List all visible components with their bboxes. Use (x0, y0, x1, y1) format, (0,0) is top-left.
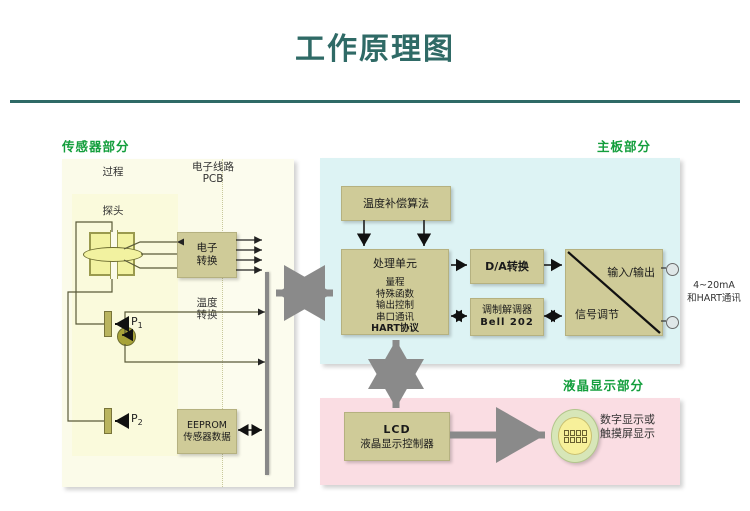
display-out-line1: 数字显示或 (600, 413, 686, 427)
cpu-feature-list: 量程 特殊函数 输出控制 串口通讯 HART协议 (371, 277, 419, 335)
page-title: 工作原理图 (0, 24, 750, 68)
io-diagonal-divider (566, 250, 662, 335)
process-caption: 过程 (80, 166, 146, 178)
digit-cell (570, 430, 575, 436)
io-bottom-label: 信号调节 (575, 308, 619, 321)
digit-cell (576, 430, 581, 436)
econv-line1: 电子 (197, 242, 218, 255)
p1-letter: P (131, 315, 138, 328)
temperature-conversion-caption: 温度 转换 (178, 297, 236, 321)
lcd-section-label: 液晶显示部分 (563, 375, 644, 394)
pressure-tap-p1 (104, 311, 112, 337)
temperature-compensation-box: 温度补偿算法 (341, 186, 451, 221)
probe-caption: 探头 (82, 205, 144, 217)
p1-label: P1 (131, 315, 143, 330)
cpu-feature: 串口通讯 (371, 312, 419, 324)
cpu-feature: 量程 (371, 277, 419, 289)
pcb-caption-line1: 电子线路 (177, 161, 249, 173)
p2-label: P2 (131, 412, 143, 427)
sensor-bus-bar (265, 272, 269, 475)
cpu-title: 处理单元 (373, 257, 417, 270)
output-terminal-bottom (666, 316, 679, 329)
io-diagonal-svg (566, 250, 662, 335)
lcd-controller-title: LCD (383, 423, 410, 436)
pressure-tap-p2 (104, 408, 112, 434)
display-output-caption: 数字显示或 触摸屏显示 (600, 413, 686, 441)
electronic-conversion-box: 电子 转换 (177, 232, 237, 278)
digit-cell (576, 437, 581, 443)
mainboard-section-label: 主板部分 (597, 136, 651, 155)
p2-subscript: 2 (138, 418, 143, 427)
temperature-sensor-icon (117, 327, 136, 346)
econv-line2: 转换 (197, 255, 218, 268)
display-icon-digits (564, 430, 587, 443)
p1-subscript: 1 (138, 321, 143, 330)
lcd-controller-subtitle: 液晶显示控制器 (360, 438, 434, 451)
diagram-page: 工作原理图 传感器部分 主板部分 液晶显示部分 过程 电子线路 PCB 探头 温… (0, 0, 750, 511)
output-terminal-top (666, 263, 679, 276)
round-display-icon (551, 409, 599, 463)
digit-cell (564, 430, 569, 436)
digit-cell (582, 437, 587, 443)
modem-line1: 调制解调器 (482, 305, 532, 317)
eeprom-box: EEPROM 传感器数据 (177, 409, 237, 454)
sensor-section-label: 传感器部分 (62, 136, 130, 155)
eeprom-line2: 传感器数据 (183, 432, 231, 444)
digit-cell (570, 437, 575, 443)
lcd-controller-box: LCD 液晶显示控制器 (344, 412, 450, 461)
loop-line2: 和HART通讯 (682, 292, 746, 305)
digit-cell (582, 430, 587, 436)
p2-letter: P (131, 412, 138, 425)
io-top-label: 输入/输出 (607, 266, 655, 279)
probe-diaphragm-icon (83, 247, 143, 262)
eeprom-line1: EEPROM (187, 420, 227, 432)
pcb-caption: 电子线路 PCB (177, 161, 249, 185)
processing-unit-box: 处理单元 量程 特殊函数 输出控制 串口通讯 HART协议 (341, 249, 449, 335)
cpu-feature: 特殊函数 (371, 289, 419, 301)
io-signal-conditioning-box: 输入/输出 信号调节 (565, 249, 663, 336)
cpu-feature: 输出控制 (371, 300, 419, 312)
cpu-feature: HART协议 (371, 323, 419, 335)
loop-line1: 4~20mA (682, 279, 746, 292)
temp-conv-line1: 温度 (178, 297, 236, 309)
display-out-line2: 触摸屏显示 (600, 427, 686, 441)
loop-signal-caption: 4~20mA 和HART通讯 (682, 279, 746, 305)
modem-line2: Bell 202 (480, 317, 534, 329)
da-converter-box: D/A转换 (470, 249, 544, 284)
pcb-caption-line2: PCB (177, 173, 249, 185)
temp-conv-line2: 转换 (178, 309, 236, 321)
header-divider (10, 100, 740, 103)
modem-box: 调制解调器 Bell 202 (470, 298, 544, 336)
digit-cell (564, 437, 569, 443)
display-icon-face (558, 417, 592, 455)
